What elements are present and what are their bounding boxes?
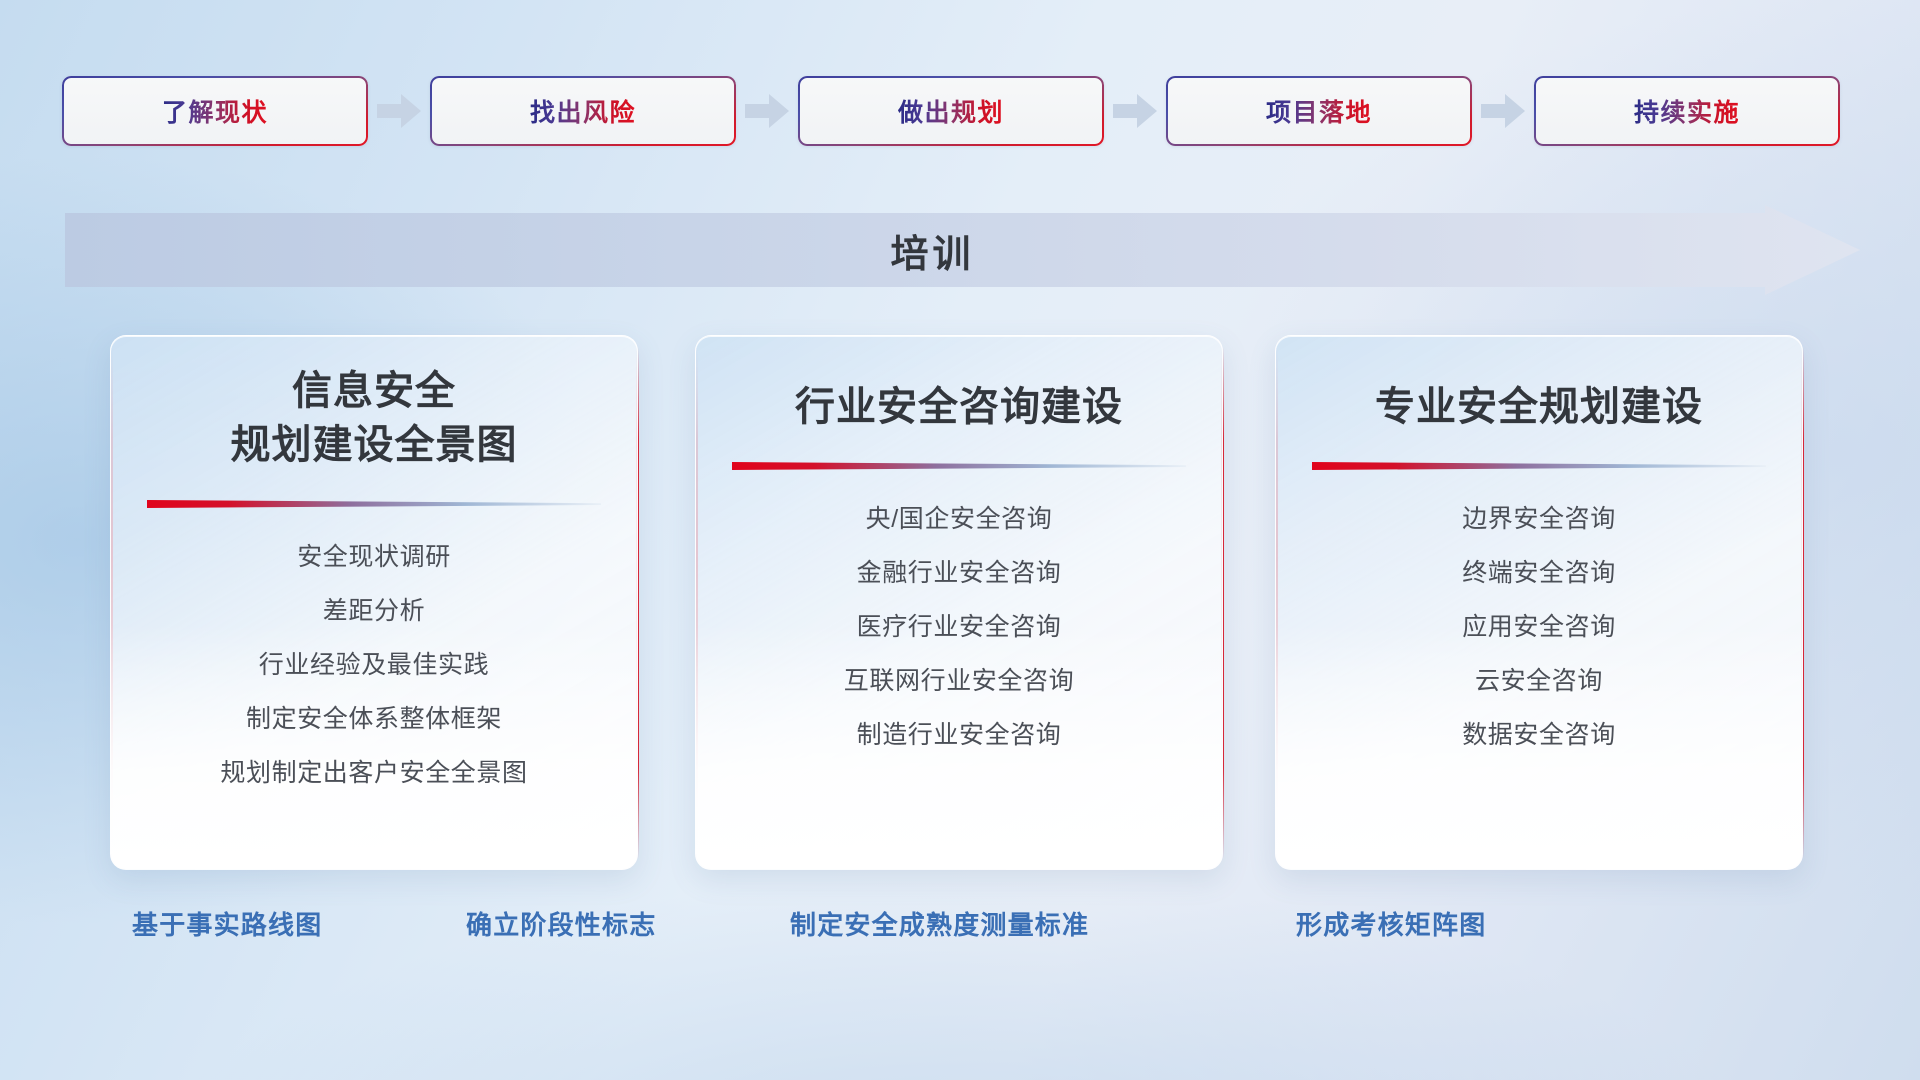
- list-item: 金融行业安全咨询: [857, 548, 1062, 598]
- step-chip-2[interactable]: 做出规划: [798, 76, 1104, 146]
- step-chip-4[interactable]: 持续实施: [1534, 76, 1840, 146]
- step-arrow-icon-1: [736, 92, 798, 130]
- list-item: 行业经验及最佳实践: [259, 640, 489, 690]
- service-card-industry-security-consulting[interactable]: 行业安全咨询建设: [695, 335, 1223, 870]
- step-label: 项目落地: [1266, 93, 1372, 129]
- list-item: 云安全咨询: [1475, 656, 1603, 706]
- list-item: 制定安全体系整体框架: [246, 694, 502, 744]
- step-label: 持续实施: [1634, 93, 1740, 129]
- card-title-line: 规划建设全景图: [137, 418, 611, 472]
- step-chip-3[interactable]: 项目落地: [1166, 76, 1472, 146]
- training-banner: 培训: [65, 205, 1860, 295]
- footer-label-row: 基于事实路线图 确立阶段性标志 制定安全成熟度测量标准 形成考核矩阵图: [0, 905, 1920, 953]
- footer-label-0: 基于事实路线图: [132, 905, 322, 942]
- card-item-list: 安全现状调研 差距分析 行业经验及最佳实践 制定安全体系整体框架 规划制定出客户…: [111, 532, 637, 798]
- banner-title: 培训: [65, 205, 1800, 295]
- step-arrow-icon-3: [1472, 92, 1534, 130]
- slide-canvas: 了解现状 找出风险 做出规划 项目落地: [0, 0, 1920, 1080]
- list-item: 应用安全咨询: [1462, 602, 1616, 652]
- gradient-divider-icon: [732, 460, 1186, 472]
- list-item: 边界安全咨询: [1462, 494, 1616, 544]
- footer-label-3: 形成考核矩阵图: [1296, 905, 1486, 942]
- step-chip-1[interactable]: 找出风险: [430, 76, 736, 146]
- list-item: 安全现状调研: [297, 532, 451, 582]
- step-arrow-icon-0: [368, 92, 430, 130]
- card-item-list: 边界安全咨询 终端安全咨询 应用安全咨询 云安全咨询 数据安全咨询: [1276, 494, 1802, 760]
- step-arrow-icon-2: [1104, 92, 1166, 130]
- list-item: 数据安全咨询: [1462, 710, 1616, 760]
- list-item: 互联网行业安全咨询: [844, 656, 1074, 706]
- footer-label-2: 制定安全成熟度测量标准: [790, 905, 1089, 942]
- step-label: 了解现状: [162, 93, 268, 129]
- step-label: 做出规划: [898, 93, 1004, 129]
- list-item: 差距分析: [323, 586, 425, 636]
- card-title: 行业安全咨询建设: [696, 380, 1222, 434]
- card-row: 信息安全 规划建设全景图: [0, 335, 1920, 870]
- process-step-row: 了解现状 找出风险 做出规划 项目落地: [62, 76, 1862, 146]
- card-title-line: 行业安全咨询建设: [722, 380, 1196, 434]
- gradient-divider-icon: [1312, 460, 1766, 472]
- service-card-professional-security-planning[interactable]: 专业安全规划建设: [1275, 335, 1803, 870]
- card-title: 专业安全规划建设: [1276, 380, 1802, 434]
- list-item: 医疗行业安全咨询: [857, 602, 1062, 652]
- list-item: 央/国企安全咨询: [866, 494, 1053, 544]
- step-label: 找出风险: [530, 93, 636, 129]
- card-title-line: 专业安全规划建设: [1302, 380, 1776, 434]
- card-item-list: 央/国企安全咨询 金融行业安全咨询 医疗行业安全咨询 互联网行业安全咨询 制造行…: [696, 494, 1222, 760]
- step-chip-0[interactable]: 了解现状: [62, 76, 368, 146]
- card-title: 信息安全 规划建设全景图: [111, 364, 637, 472]
- list-item: 制造行业安全咨询: [857, 710, 1062, 760]
- service-card-information-security-blueprint[interactable]: 信息安全 规划建设全景图: [110, 335, 638, 870]
- gradient-divider-icon: [147, 498, 601, 510]
- card-title-line: 信息安全: [137, 364, 611, 418]
- list-item: 终端安全咨询: [1462, 548, 1616, 598]
- footer-label-1: 确立阶段性标志: [466, 905, 656, 942]
- list-item: 规划制定出客户安全全景图: [220, 748, 527, 798]
